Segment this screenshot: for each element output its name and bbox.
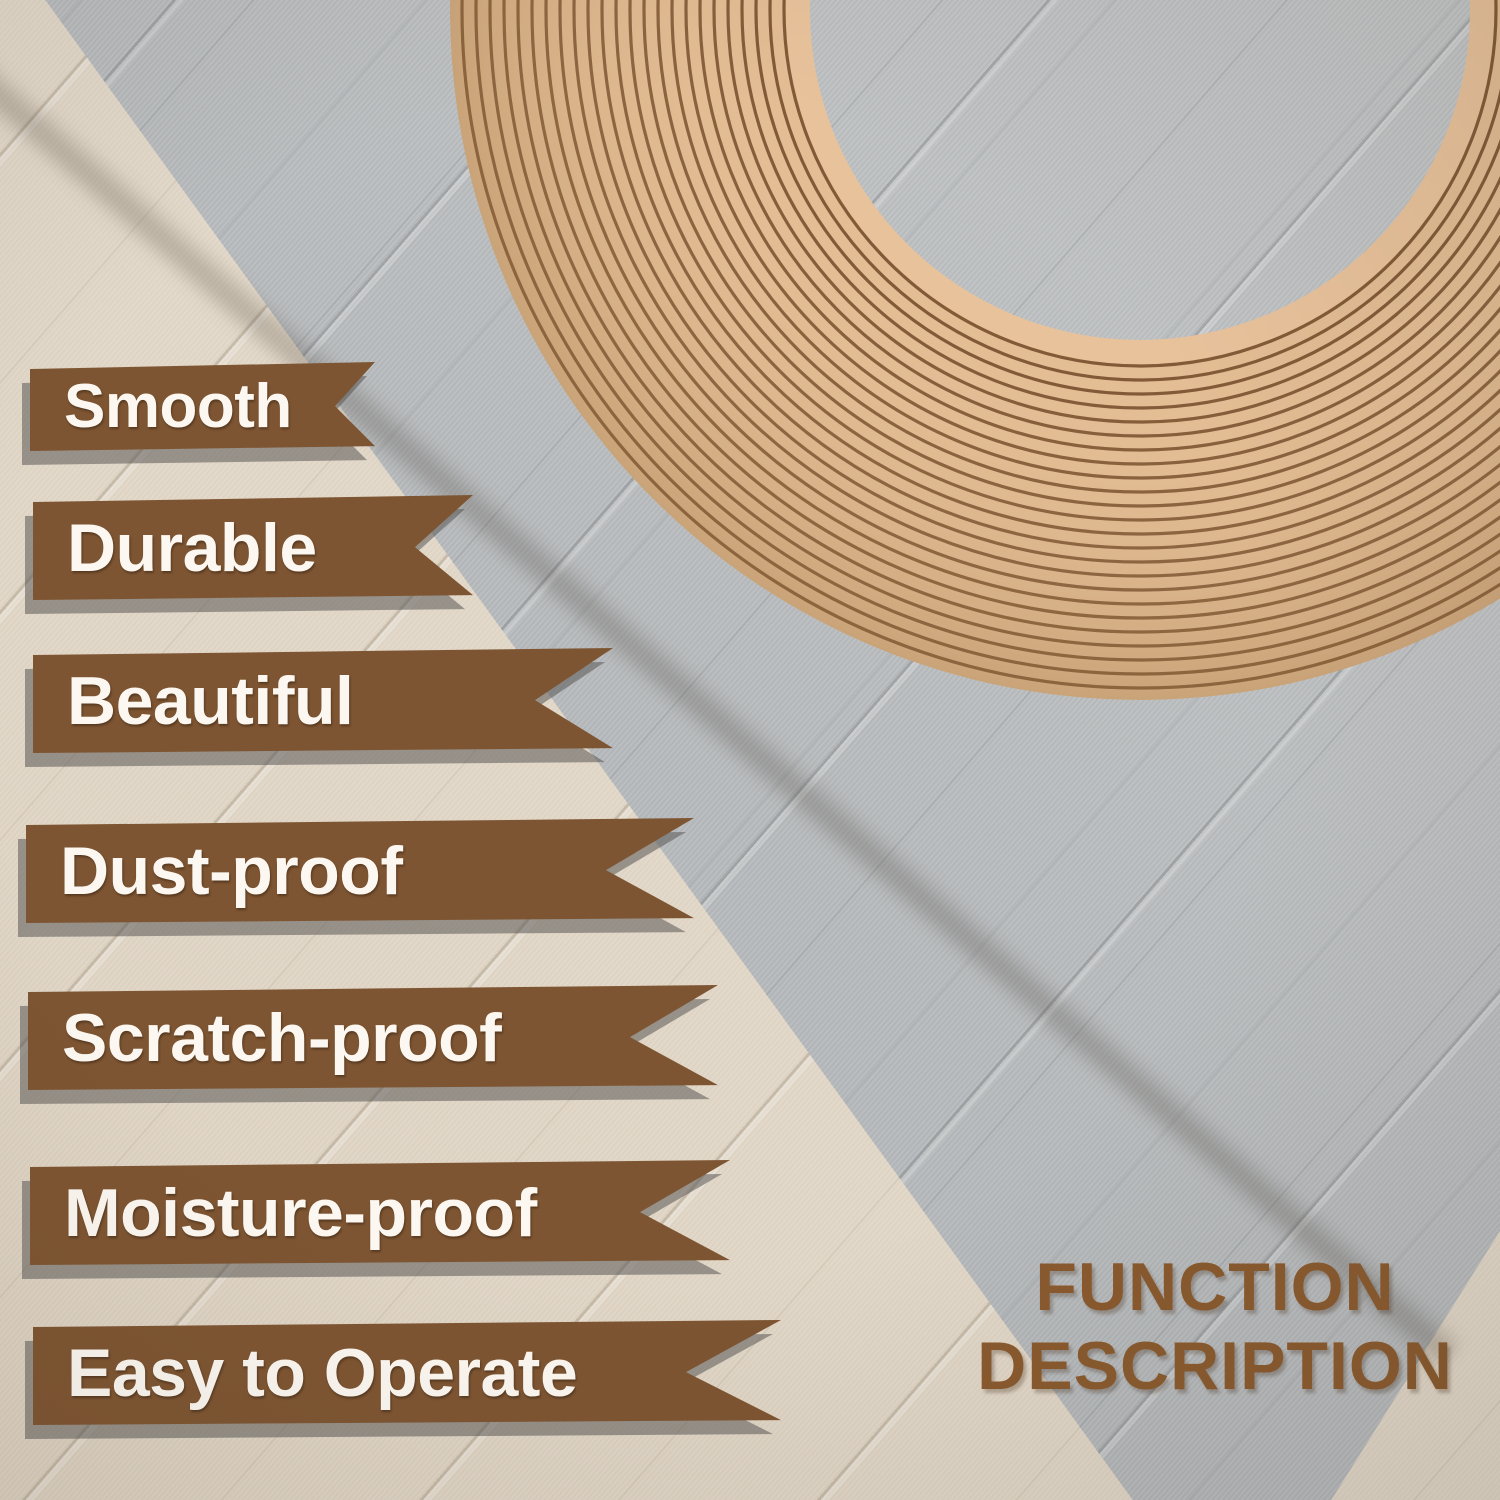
- feature-ribbon: Beautiful: [33, 648, 643, 776]
- ribbon-shape: [28, 985, 718, 1090]
- ribbon-shape: [33, 1320, 781, 1425]
- feature-ribbon: Dust-proof: [26, 818, 724, 946]
- page-title-line-2: DESCRIPTION: [955, 1327, 1475, 1406]
- ribbon-shape: [30, 362, 375, 451]
- product-feature-image: SmoothDurableBeautifulDust-proofScratch-…: [0, 0, 1500, 1500]
- feature-ribbon: Easy to Operate: [33, 1320, 811, 1448]
- page-title: FUNCTION DESCRIPTION: [955, 1248, 1475, 1406]
- ribbon-shape: [30, 1160, 730, 1265]
- feature-ribbon: Moisture-proof: [30, 1160, 760, 1288]
- feature-ribbon: Durable: [33, 495, 503, 623]
- ribbon-shape: [33, 648, 613, 753]
- page-title-line-1: FUNCTION: [955, 1248, 1475, 1327]
- feature-ribbon: Smooth: [30, 362, 405, 474]
- feature-ribbon: Scratch-proof: [28, 985, 748, 1113]
- ribbon-shape: [26, 818, 694, 923]
- ribbon-shape: [33, 495, 473, 600]
